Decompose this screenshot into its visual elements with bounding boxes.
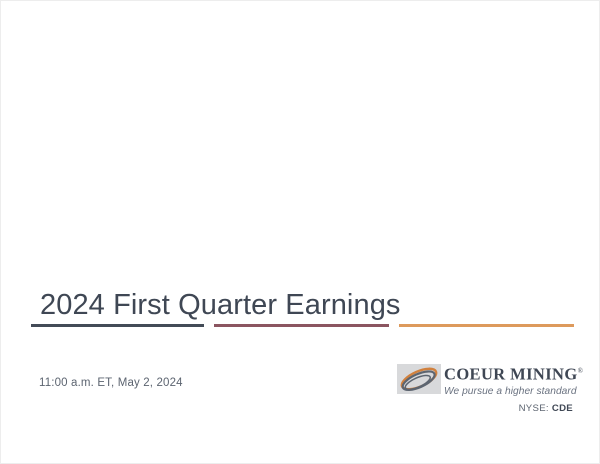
presentation-title-slide: 2024 First Quarter Earnings 11:00 a.m. E… [0,0,600,464]
event-datetime: 11:00 a.m. ET, May 2, 2024 [39,377,183,389]
ticker-exchange-label: NYSE: [519,403,549,414]
divider-rule-orange [399,324,574,327]
page-title: 2024 First Quarter Earnings [40,287,401,323]
logo-row: COEUR MINING® We pursue a higher standar… [397,362,575,394]
stock-ticker: NYSE: CDE [519,403,573,414]
logo-tagline: We pursue a higher standard [444,385,575,398]
divider-rule-navy [31,324,204,327]
ticker-symbol: CDE [552,403,573,414]
company-logo: COEUR MINING® We pursue a higher standar… [397,362,575,412]
registered-trademark-icon: ® [578,367,583,375]
divider-rule-maroon [214,324,389,327]
logo-wordmark-text: COEUR MINING [444,365,578,384]
coeur-ellipse-swoosh-icon [397,364,441,394]
logo-wordmark-group: COEUR MINING® We pursue a higher standar… [444,362,575,398]
logo-wordmark: COEUR MINING® [444,362,575,384]
